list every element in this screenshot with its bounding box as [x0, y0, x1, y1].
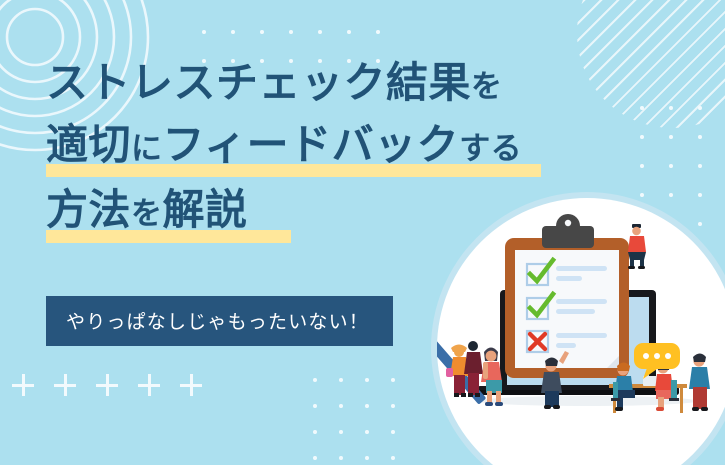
headline-line-1-small: を — [471, 69, 503, 104]
plus-icon — [138, 374, 160, 396]
headline-line-3-small: を — [131, 196, 163, 231]
plus-icon — [96, 374, 118, 396]
headline-line-2-small2: する — [459, 131, 522, 166]
plus-icon — [180, 374, 202, 396]
banner-canvas: ストレスチェック結果を 適切にフィードバックする 方法を解説 やりっぱなしじゃも… — [0, 0, 725, 465]
plus-signs-decoration — [12, 374, 232, 400]
person-sitting-on-laptop — [628, 224, 646, 269]
headline-line-1-main: ストレスチェック結果 — [46, 59, 471, 106]
headline-line-1: ストレスチェック結果を — [46, 56, 646, 114]
headline-line-3-main: 方法 — [46, 186, 131, 233]
headline-line-2-small: に — [131, 131, 163, 166]
headline-line-2-main: 適切 — [46, 121, 131, 168]
headline-line-2: 適切にフィードバックする — [46, 114, 646, 180]
plus-icon — [12, 374, 34, 396]
headline-line-3-main2: 解説 — [163, 186, 248, 233]
plus-icon — [54, 374, 76, 396]
status-badge: やりっぱなしじゃもったいない！ — [46, 296, 393, 346]
headline-line-2-main2: フィードバック — [163, 121, 460, 168]
bottom-dot-grid-decoration — [313, 378, 433, 465]
checklist-clipboard-teamwork-illustration — [437, 198, 725, 465]
